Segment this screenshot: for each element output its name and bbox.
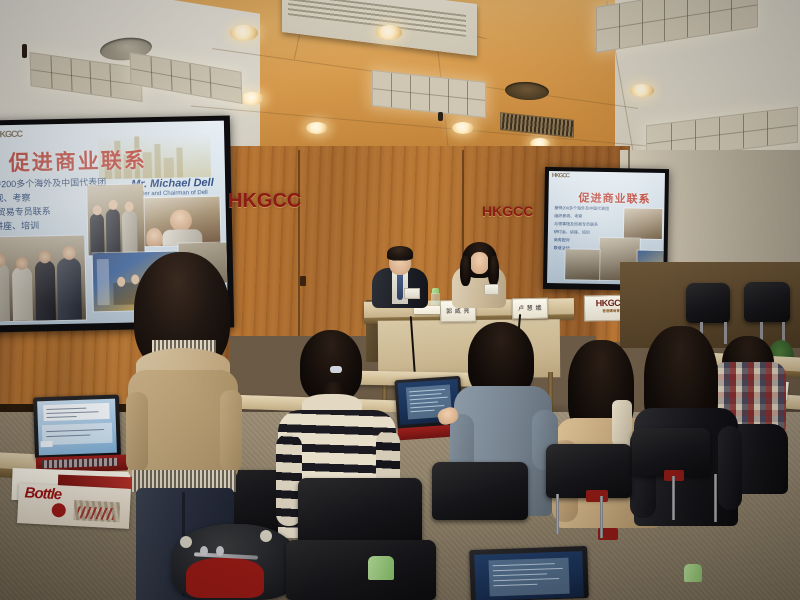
hair-clip (330, 366, 342, 373)
wall-switch[interactable] (300, 276, 306, 286)
magazine-title: Bottle (24, 484, 61, 503)
hkgcc-wall-logo-left: HKGCC (228, 190, 301, 213)
chair-leg (672, 476, 675, 520)
chair-leg (724, 322, 727, 344)
ceiling-downlight (306, 122, 328, 134)
backpack-strap-clip (260, 530, 272, 542)
chair-empty[interactable] (744, 282, 790, 322)
chair-audience[interactable] (432, 462, 528, 520)
laptop-left-screen (37, 399, 117, 456)
speaker-right-hair-right (488, 256, 499, 286)
hkgcc-wall-logo-right: HKGCC (482, 203, 533, 219)
ceiling-downlight (630, 84, 654, 97)
sprinkler-head (438, 112, 443, 121)
chair-cushion (586, 490, 608, 502)
scarf (612, 400, 632, 446)
ceiling-downlight (376, 25, 402, 40)
backpack-strap-clip (180, 536, 192, 548)
chair-foreground[interactable] (286, 540, 436, 600)
chair-leg (714, 474, 717, 522)
ceiling-downlight (452, 122, 474, 134)
speaker-right-face-front (470, 252, 489, 274)
glasses-icon (392, 258, 408, 261)
backpack-lining (186, 558, 264, 598)
ceiling-downlight (240, 92, 264, 105)
bottle-cap-front (684, 564, 702, 582)
zipper-pull[interactable] (200, 546, 208, 556)
chair-audience[interactable] (298, 478, 422, 544)
sleeve-right (718, 426, 742, 510)
nameplate-speaker-right: 卢 慧 娥 (512, 298, 548, 320)
backpack[interactable] (172, 524, 298, 600)
speaker-right-hair-left (460, 256, 471, 286)
speaker-left-badge (404, 288, 420, 299)
zipper-pull[interactable] (216, 546, 224, 556)
conference-room-photo: HKGCC 促进商业联系 接待200多个海外及中国代表团 组织参观、考察 与领事… (0, 0, 800, 600)
sleeve-right (220, 390, 242, 472)
sprinkler-head (22, 44, 27, 58)
speaker-right-badge (484, 284, 499, 295)
sleeve-left (126, 392, 148, 472)
chair-audience[interactable] (632, 428, 710, 476)
bottle-cap-front (368, 556, 394, 580)
laptop-front-screen (474, 551, 584, 600)
magazine[interactable]: Bottle (17, 483, 131, 529)
speaker-left-tie (397, 274, 403, 300)
laptop-front[interactable] (469, 546, 589, 600)
nameplate-text: 卢 慧 娥 (513, 303, 547, 313)
chair-leg (556, 494, 559, 534)
wall-seam (298, 150, 300, 336)
chair-empty[interactable] (686, 283, 730, 323)
laptop-left[interactable] (33, 395, 121, 460)
chair-leg (600, 496, 603, 538)
ceiling-downlight (230, 25, 258, 41)
water-bottle (431, 293, 440, 305)
